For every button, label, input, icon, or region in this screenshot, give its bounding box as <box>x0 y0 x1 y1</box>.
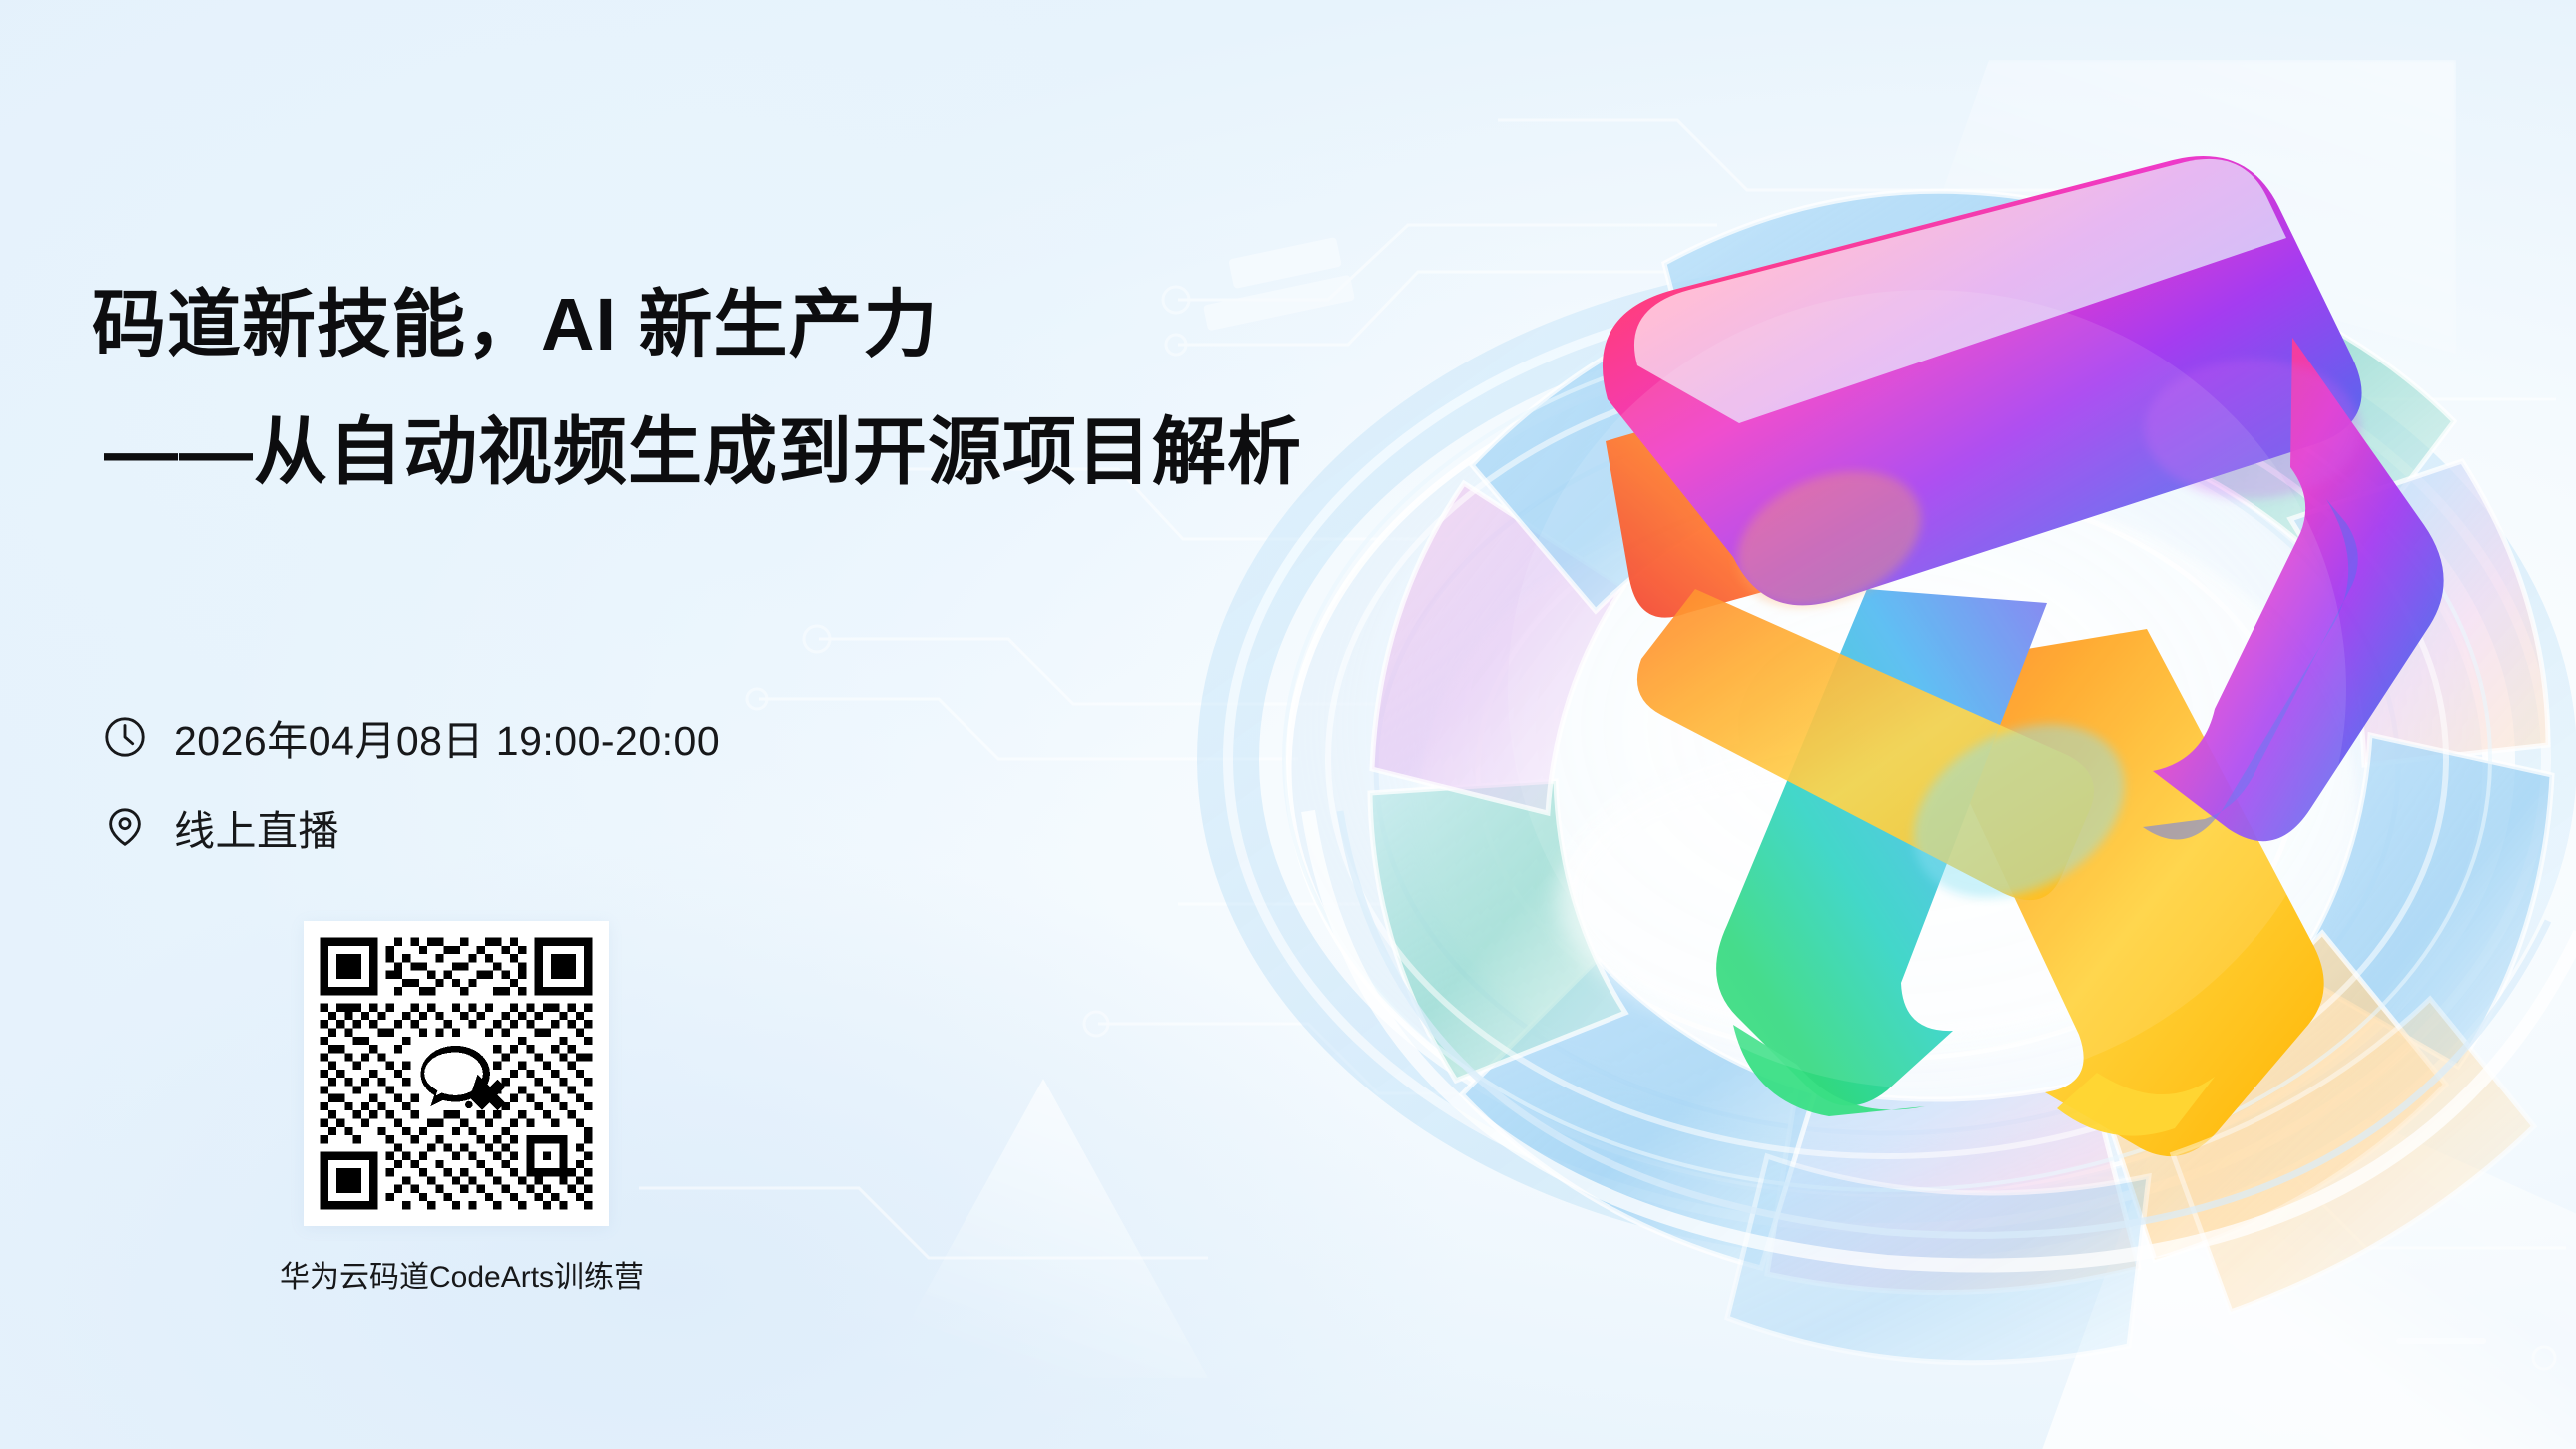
title-line-2: ——从自动视频生成到开源项目解析 <box>104 415 1302 489</box>
location-pin-icon <box>102 804 148 850</box>
clock-icon <box>102 714 148 760</box>
datetime-row: 2026年04月08日 19:00-20:00 <box>102 707 720 767</box>
event-details: 2026年04月08日 19:00-20:00 线上直播 <box>102 707 720 887</box>
location-row: 线上直播 <box>102 797 720 857</box>
datetime-text: 2026年04月08日 19:00-20:00 <box>174 707 720 767</box>
promo-banner: 码道新技能，AI 新生产力 ——从自动视频生成到开源项目解析 2026年04月0… <box>0 0 2576 1449</box>
content-column: 码道新技能，AI 新生产力 ——从自动视频生成到开源项目解析 2026年04月0… <box>92 0 1270 1449</box>
qr-caption: 华为云码道CodeArts训练营 <box>280 1252 585 1296</box>
title-line-1: 码道新技能，AI 新生产力 <box>92 288 1302 362</box>
location-text: 线上直播 <box>174 797 339 857</box>
qr-block: 华为云码道CodeArts训练营 <box>304 921 609 1296</box>
title-block: 码道新技能，AI 新生产力 ——从自动视频生成到开源项目解析 <box>92 288 1302 489</box>
qr-code[interactable] <box>304 921 609 1226</box>
